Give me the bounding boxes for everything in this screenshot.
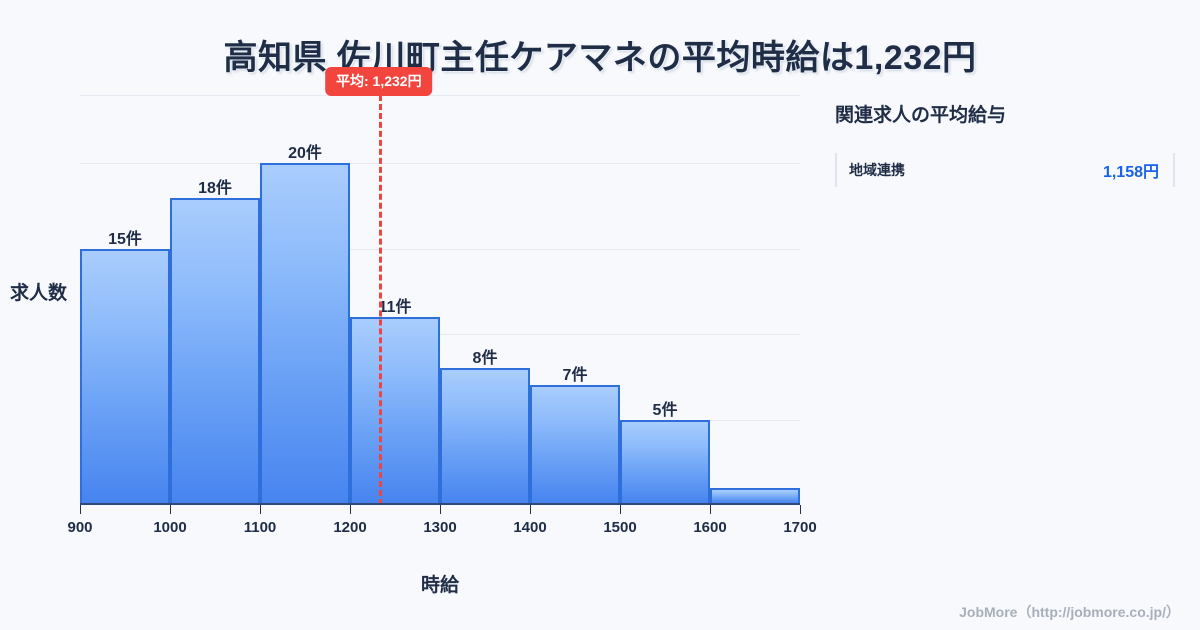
x-axis-tick	[350, 505, 351, 514]
x-axis-tick-label: 1500	[603, 519, 636, 536]
x-axis-tick-label: 1700	[783, 519, 816, 536]
x-axis-tick	[260, 505, 261, 514]
x-axis-tick-label: 1400	[513, 519, 546, 536]
x-axis-tick-label: 1600	[693, 519, 726, 536]
bar-value-label: 15件	[108, 225, 142, 249]
related-salary-row: 地域連携1,158円	[835, 153, 1175, 187]
y-axis-title: 求人数	[10, 278, 67, 305]
average-badge: 平均: 1,232円	[325, 67, 433, 96]
x-axis-tick	[80, 505, 81, 514]
average-line	[379, 95, 382, 505]
footer-attribution: JobMore（http://jobmore.co.jp/）	[959, 602, 1180, 622]
x-axis-tick	[710, 505, 711, 514]
related-salary-panel: 関連求人の平均給与 地域連携1,158円	[835, 100, 1175, 187]
bar	[440, 368, 530, 505]
bar	[350, 317, 440, 505]
bar	[170, 198, 260, 506]
x-axis-tick	[440, 505, 441, 514]
x-axis-tick	[530, 505, 531, 514]
x-axis-tick	[170, 505, 171, 514]
x-axis-tick	[620, 505, 621, 514]
bar-value-label: 8件	[473, 344, 498, 368]
x-axis-title: 時給	[80, 570, 800, 597]
x-axis-tick	[800, 505, 801, 514]
x-axis-ticks: 90010001100120013001400150016001700	[80, 505, 800, 515]
related-salary-title: 関連求人の平均給与	[835, 100, 1175, 127]
bar-value-label: 20件	[288, 139, 322, 163]
bar-value-label: 7件	[563, 361, 588, 385]
x-axis-tick-label: 1000	[153, 519, 186, 536]
related-salary-row-label: 地域連携	[849, 160, 905, 180]
x-axis-tick-label: 900	[67, 519, 92, 536]
x-axis-tick-label: 1100	[244, 519, 277, 536]
bar	[530, 385, 620, 505]
page-title: 高知県 佐川町主任ケアマネの平均時給は1,232円	[0, 30, 1200, 79]
bar-value-label: 5件	[653, 396, 678, 420]
bar	[260, 163, 350, 505]
x-axis-tick-label: 1200	[333, 519, 366, 536]
bar-series: 15件18件20件11件8件7件5件	[80, 95, 800, 505]
bar	[80, 249, 170, 505]
bar	[620, 420, 710, 505]
related-salary-row-value: 1,158円	[1103, 158, 1159, 182]
bar-value-label: 18件	[198, 174, 232, 198]
related-salary-rows: 地域連携1,158円	[835, 153, 1175, 187]
x-axis-tick-label: 1300	[423, 519, 456, 536]
bar-value-label: 11件	[379, 293, 412, 317]
chart-page: 高知県 佐川町主任ケアマネの平均時給は1,232円 15件18件20件11件8件…	[0, 0, 1200, 630]
plot-area: 15件18件20件11件8件7件5件 平均: 1,232円	[80, 95, 800, 505]
